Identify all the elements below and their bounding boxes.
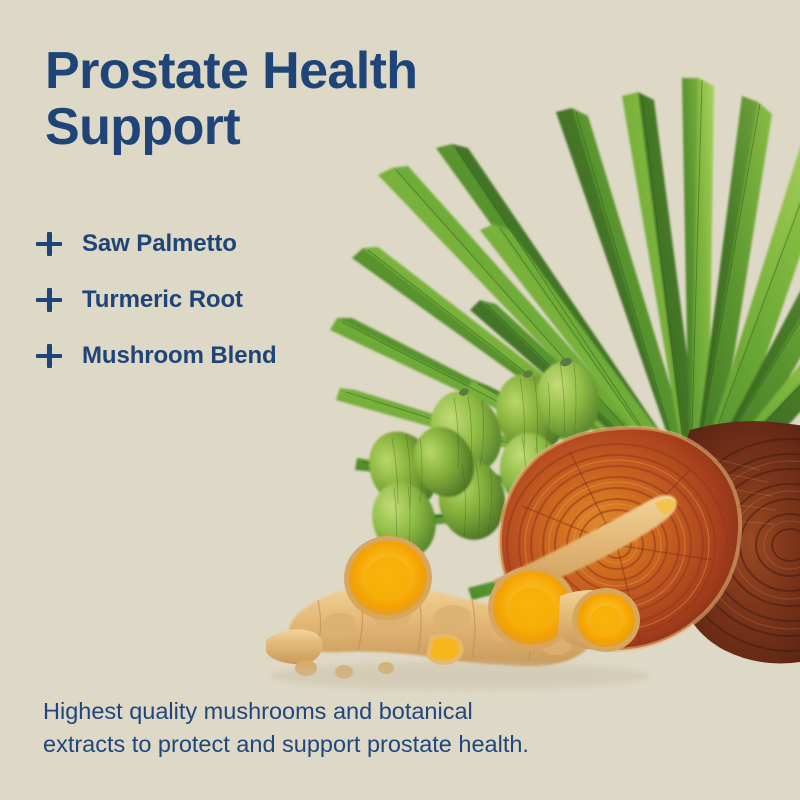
footer-description: Highest quality mushrooms and botanical … xyxy=(43,695,683,762)
ingredient-label: Saw Palmetto xyxy=(82,230,237,258)
turmeric-root xyxy=(266,495,677,690)
turmeric-chip xyxy=(426,634,464,665)
plus-icon xyxy=(36,231,62,257)
turmeric-cut-middle xyxy=(488,566,576,650)
list-item: Turmeric Root xyxy=(36,272,456,328)
list-item: Saw Palmetto xyxy=(36,216,456,272)
reishi-mushroom-dark xyxy=(669,421,800,663)
reishi-mushroom-orange xyxy=(500,428,740,651)
ingredient-label: Mushroom Blend xyxy=(82,342,277,370)
plus-icon xyxy=(36,343,62,369)
turmeric-cut-left xyxy=(339,530,438,625)
saw-palmetto-berries xyxy=(356,356,605,566)
plus-icon xyxy=(36,287,62,313)
turmeric-cut-right xyxy=(572,588,640,652)
product-graphic-card: Prostate Health Support Saw Palmetto Tur… xyxy=(0,0,800,800)
ingredient-list: Saw Palmetto Turmeric Root Mushroom Blen… xyxy=(36,216,456,384)
list-item: Mushroom Blend xyxy=(36,328,456,384)
ingredient-label: Turmeric Root xyxy=(82,286,243,314)
page-title: Prostate Health Support xyxy=(45,44,585,155)
